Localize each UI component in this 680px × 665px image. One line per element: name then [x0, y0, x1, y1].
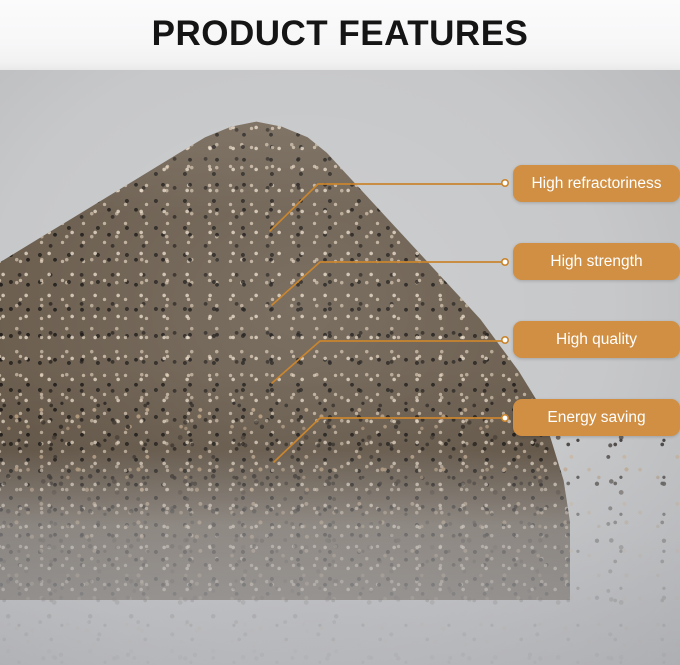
grain-texture-overlay — [0, 80, 570, 600]
page-title: PRODUCT FEATURES — [0, 14, 680, 54]
feature-label-high-refractoriness[interactable]: High refractoriness — [513, 165, 680, 202]
feature-label-high-strength[interactable]: High strength — [513, 243, 680, 280]
header-band: PRODUCT FEATURES — [0, 0, 680, 70]
product-photo — [0, 70, 680, 665]
product-features-banner: PRODUCT FEATURES High refractorinessHigh… — [0, 0, 680, 665]
feature-label-energy-saving[interactable]: Energy saving — [513, 399, 680, 436]
feature-label-high-quality[interactable]: High quality — [513, 321, 680, 358]
abrasive-grit-pile — [0, 80, 570, 600]
abrasive-pile-group — [0, 70, 680, 665]
pile-shading-overlay — [0, 80, 570, 600]
